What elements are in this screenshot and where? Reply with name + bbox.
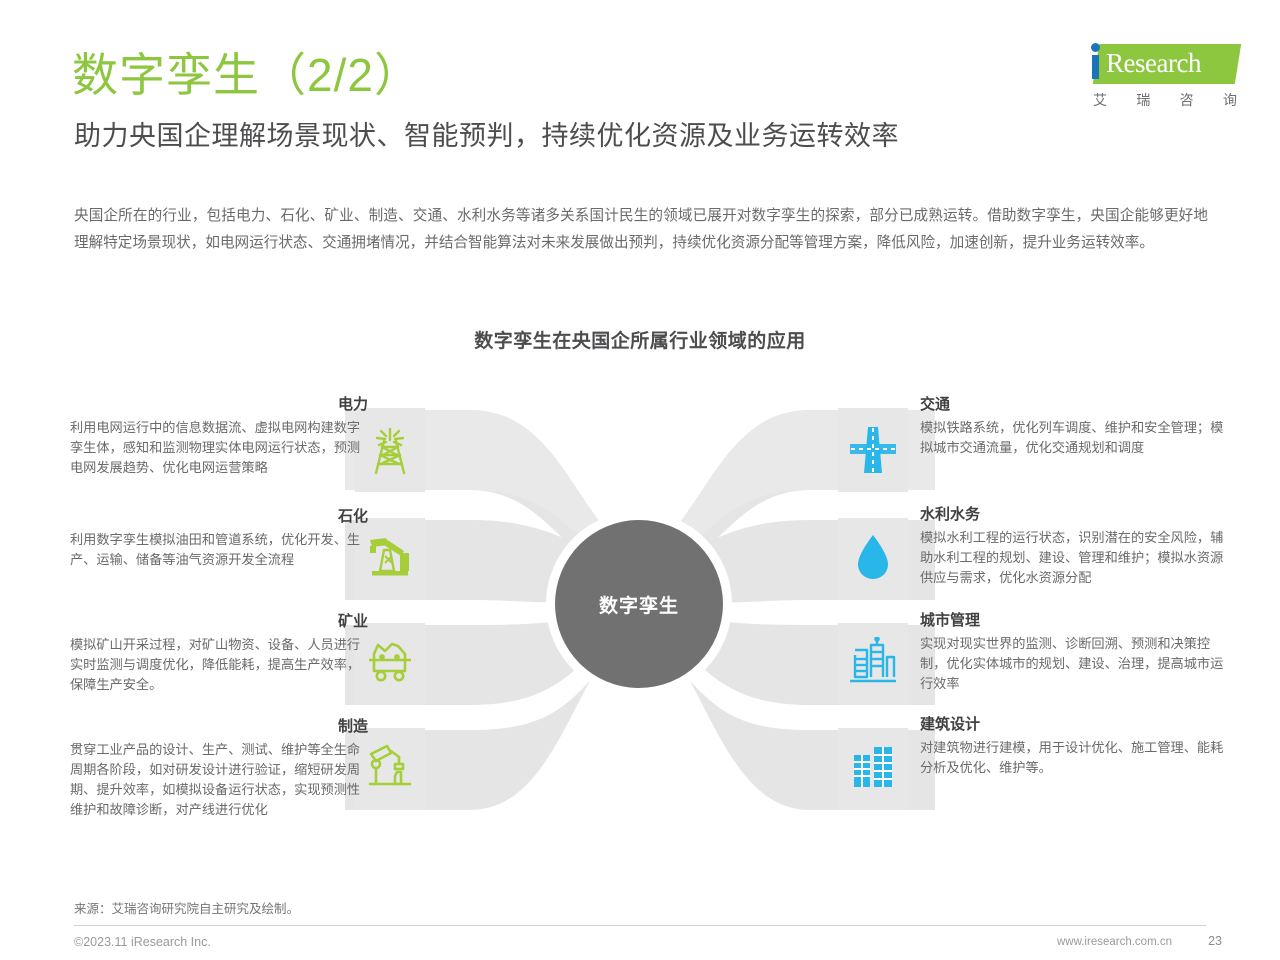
center-node-label: 数字孪生 <box>599 591 679 618</box>
item-title: 水利水务 <box>920 506 1230 525</box>
body-paragraph: 央国企所在的行业，包括电力、石化、矿业、制造、交通、水利水务等诸多关系国计民生的… <box>74 203 1208 257</box>
item-desc: 利用电网运行中的信息数据流、虚拟电网构建数字孪生体，感知和监测物理实体电网运行状… <box>70 418 368 478</box>
page-subtitle: 助力央国企理解场景现状、智能预判，持续优化资源及业务运转效率 <box>74 114 899 153</box>
list-item-transportation: 交通 模拟铁路系统，优化列车调度、维护和安全管理；模拟城市交通流量，优化交通规划… <box>920 396 1230 458</box>
building-design-icon <box>841 735 904 798</box>
logo-cn-char-1: 瑞 <box>1136 90 1151 110</box>
iresearch-logo: Research 艾 瑞 咨 询 <box>1088 42 1238 112</box>
list-item-mining: 矿业 模拟矿山开采过程，对矿山物资、设备、人员进行实时监测与调度优化，降低能耗，… <box>70 613 368 695</box>
list-item-petrochemical: 石化 利用数字孪生模拟油田和管道系统，优化开发、生产、运输、储备等油气资源开发全… <box>70 508 368 570</box>
item-title: 石化 <box>70 508 368 527</box>
logo-i-dot-icon <box>1091 43 1100 52</box>
logo-mark: Research <box>1088 42 1238 86</box>
list-item-architecture: 建筑设计 对建筑物进行建模，用于设计优化、施工管理、能耗分析及优化、维护等。 <box>920 716 1230 778</box>
list-item-manufacturing: 制造 贯穿工业产品的设计、生产、测试、维护等全生命周期各阶段，如对研发设计进行验… <box>70 718 368 820</box>
source-note: 来源：艾瑞咨询研究院自主研究及绘制。 <box>74 898 299 917</box>
page-number: 23 <box>1208 934 1222 948</box>
logo-cn-char-2: 咨 <box>1180 90 1195 110</box>
item-title: 制造 <box>70 718 368 737</box>
item-title: 电力 <box>70 396 368 415</box>
logo-i-stem-icon <box>1092 55 1099 79</box>
item-desc: 贯穿工业产品的设计、生产、测试、维护等全生命周期各阶段，如对研发设计进行验证，缩… <box>70 740 368 820</box>
logo-chinese-name: 艾 瑞 咨 询 <box>1093 90 1238 110</box>
item-desc: 模拟水利工程的运行状态，识别潜在的安全风险，辅助水利工程的规划、建设、管理和维护… <box>920 528 1230 588</box>
chart-title: 数字孪生在央国企所属行业领域的应用 <box>0 326 1280 353</box>
copyright-text: ©2023.11 iResearch Inc. <box>74 935 211 949</box>
list-item-city-management: 城市管理 实现对现实世界的监测、诊断回溯、预测和决策控制，优化实体城市的规划、建… <box>920 612 1230 694</box>
item-desc: 实现对现实世界的监测、诊断回溯、预测和决策控制，优化实体城市的规划、建设、治理，… <box>920 634 1230 694</box>
item-title: 交通 <box>920 396 1230 415</box>
list-item-water: 水利水务 模拟水利工程的运行状态，识别潜在的安全风险，辅助水利工程的规划、建设、… <box>920 506 1230 588</box>
crossroad-icon <box>841 418 904 481</box>
logo-cn-char-3: 询 <box>1223 90 1238 110</box>
footer-divider <box>74 925 1206 926</box>
item-title: 矿业 <box>70 613 368 632</box>
logo-cn-char-0: 艾 <box>1093 90 1108 110</box>
item-desc: 利用数字孪生模拟油田和管道系统，优化开发、生产、运输、储备等油气资源开发全流程 <box>70 530 368 570</box>
logo-wordmark: Research <box>1106 48 1201 79</box>
item-desc: 模拟铁路系统，优化列车调度、维护和安全管理；模拟城市交通流量，优化交通规划和调度 <box>920 418 1230 458</box>
item-title: 城市管理 <box>920 612 1230 631</box>
city-management-icon <box>841 630 904 693</box>
website-url: www.iresearch.com.cn <box>1057 936 1172 948</box>
item-desc: 模拟矿山开采过程，对矿山物资、设备、人员进行实时监测与调度优化，降低能耗，提高生… <box>70 635 368 695</box>
page-title: 数字孪生（2/2） <box>72 50 421 101</box>
item-title: 建筑设计 <box>920 716 1230 735</box>
water-drop-icon <box>841 525 904 588</box>
item-desc: 对建筑物进行建模，用于设计优化、施工管理、能耗分析及优化、维护等。 <box>920 738 1230 778</box>
slide-root: Research 艾 瑞 咨 询 数字孪生（2/2） 助力央国企理解场景现状、智… <box>0 0 1280 960</box>
center-node: 数字孪生 <box>555 520 723 688</box>
list-item-power: 电力 利用电网运行中的信息数据流、虚拟电网构建数字孪生体，感知和监测物理实体电网… <box>70 396 368 478</box>
